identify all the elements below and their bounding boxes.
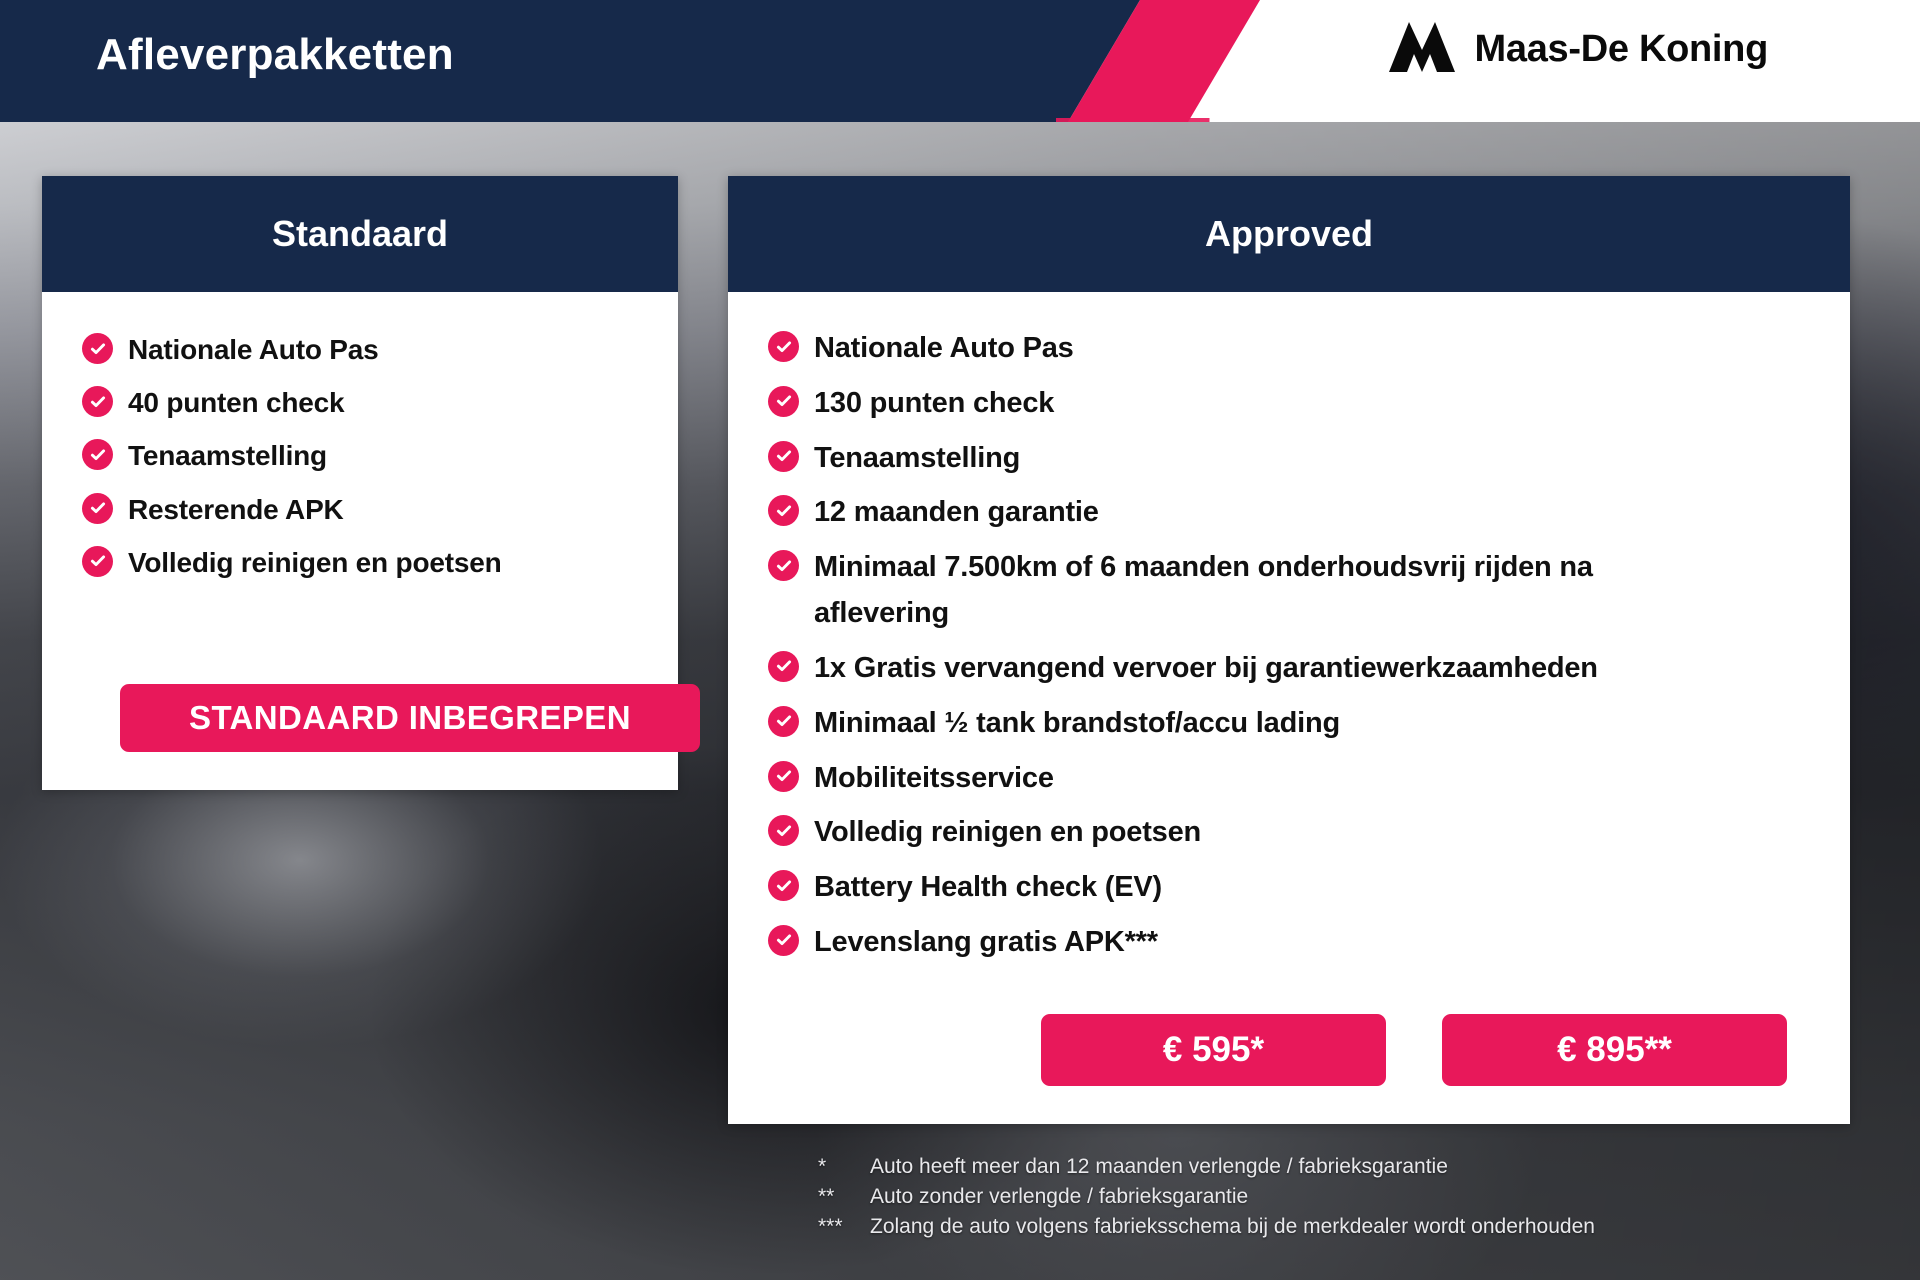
maas-de-koning-m-logo-icon	[1389, 22, 1455, 77]
list-item: Minimaal 7.500km of 6 maanden onderhouds…	[768, 545, 1850, 637]
card-body-standaard: Nationale Auto Pas 40 punten check Tenaa…	[42, 328, 678, 585]
check-circle-icon	[768, 651, 799, 682]
feature-label: Minimaal ½ tank brandstof/accu lading	[814, 701, 1340, 747]
feature-label: Nationale Auto Pas	[814, 326, 1074, 372]
package-card-approved: Approved Nationale Auto Pas 130 punten c…	[728, 176, 1850, 1124]
check-circle-icon	[768, 706, 799, 737]
price-button-row: € 595* € 895**	[728, 1014, 1850, 1086]
price-button-595[interactable]: € 595*	[1041, 1014, 1386, 1086]
check-circle-icon	[768, 331, 799, 362]
feature-label: 40 punten check	[128, 381, 344, 425]
list-item: Tenaamstelling	[768, 436, 1850, 482]
footnote-marker: **	[818, 1182, 870, 1212]
footnote-marker: ***	[818, 1212, 870, 1242]
check-circle-icon	[82, 439, 113, 470]
feature-label: Battery Health check (EV)	[814, 865, 1162, 911]
check-circle-icon	[768, 495, 799, 526]
card-title-approved: Approved	[1205, 213, 1373, 255]
feature-label: Volledig reinigen en poetsen	[814, 810, 1201, 856]
feature-label: Levenslang gratis APK***	[814, 920, 1158, 966]
page-header: Afleverpakketten Maas-De Koning	[0, 0, 1920, 122]
list-item: 1x Gratis vervangend vervoer bij garanti…	[768, 646, 1850, 692]
list-item: Nationale Auto Pas	[768, 326, 1850, 372]
brand-name: Maas-De Koning	[1475, 28, 1769, 71]
check-circle-icon	[82, 546, 113, 577]
footnote-item: *** Zolang de auto volgens fabrieksschem…	[818, 1212, 1818, 1242]
footnote-marker: *	[818, 1152, 870, 1182]
feature-label: 12 maanden garantie	[814, 490, 1099, 536]
list-item: 40 punten check	[82, 381, 678, 425]
list-item: 130 punten check	[768, 381, 1850, 427]
feature-list-standaard: Nationale Auto Pas 40 punten check Tenaa…	[82, 328, 678, 585]
list-item: Nationale Auto Pas	[82, 328, 678, 372]
feature-label: 130 punten check	[814, 381, 1054, 427]
list-item: Minimaal ½ tank brandstof/accu lading	[768, 701, 1850, 747]
card-body-approved: Nationale Auto Pas 130 punten check Tena…	[728, 326, 1850, 966]
package-card-standaard: Standaard Nationale Auto Pas 40 punten c…	[42, 176, 678, 790]
check-circle-icon	[768, 761, 799, 792]
feature-label: Minimaal 7.500km of 6 maanden onderhouds…	[814, 545, 1674, 637]
list-item: Volledig reinigen en poetsen	[768, 810, 1850, 856]
slide-root: Afleverpakketten Maas-De Koning Standaar…	[0, 0, 1920, 1280]
list-item: Levenslang gratis APK***	[768, 920, 1850, 966]
card-header-approved: Approved	[728, 176, 1850, 292]
check-circle-icon	[768, 815, 799, 846]
check-circle-icon	[768, 550, 799, 581]
list-item: Battery Health check (EV)	[768, 865, 1850, 911]
feature-list-approved: Nationale Auto Pas 130 punten check Tena…	[768, 326, 1850, 966]
check-circle-icon	[768, 870, 799, 901]
header-divider	[0, 118, 1920, 122]
list-item: Volledig reinigen en poetsen	[82, 541, 678, 585]
feature-label: Nationale Auto Pas	[128, 328, 379, 372]
check-circle-icon	[768, 386, 799, 417]
card-header-standaard: Standaard	[42, 176, 678, 292]
check-circle-icon	[768, 441, 799, 472]
brand-lockup: Maas-De Koning	[1389, 22, 1769, 77]
feature-label: 1x Gratis vervangend vervoer bij garanti…	[814, 646, 1598, 692]
check-circle-icon	[768, 925, 799, 956]
list-item: Tenaamstelling	[82, 434, 678, 478]
list-item: Resterende APK	[82, 488, 678, 532]
footnotes: * Auto heeft meer dan 12 maanden verleng…	[818, 1152, 1818, 1241]
feature-label: Tenaamstelling	[814, 436, 1020, 482]
standaard-inbegrepen-button[interactable]: STANDAARD INBEGREPEN	[120, 684, 700, 752]
footnote-text: Zolang de auto volgens fabrieksschema bi…	[870, 1212, 1818, 1242]
check-circle-icon	[82, 386, 113, 417]
footnote-item: ** Auto zonder verlengde / fabrieksgaran…	[818, 1182, 1818, 1212]
price-button-895[interactable]: € 895**	[1442, 1014, 1787, 1086]
check-circle-icon	[82, 493, 113, 524]
card-title-standaard: Standaard	[272, 213, 448, 255]
footnote-text: Auto heeft meer dan 12 maanden verlengde…	[870, 1152, 1818, 1182]
feature-label: Volledig reinigen en poetsen	[128, 541, 502, 585]
page-title: Afleverpakketten	[96, 30, 454, 80]
footnote-item: * Auto heeft meer dan 12 maanden verleng…	[818, 1152, 1818, 1182]
feature-label: Mobiliteitsservice	[814, 756, 1054, 802]
feature-label: Resterende APK	[128, 488, 344, 532]
footnote-text: Auto zonder verlengde / fabrieksgarantie	[870, 1182, 1818, 1212]
check-circle-icon	[82, 333, 113, 364]
list-item: 12 maanden garantie	[768, 490, 1850, 536]
list-item: Mobiliteitsservice	[768, 756, 1850, 802]
feature-label: Tenaamstelling	[128, 434, 327, 478]
